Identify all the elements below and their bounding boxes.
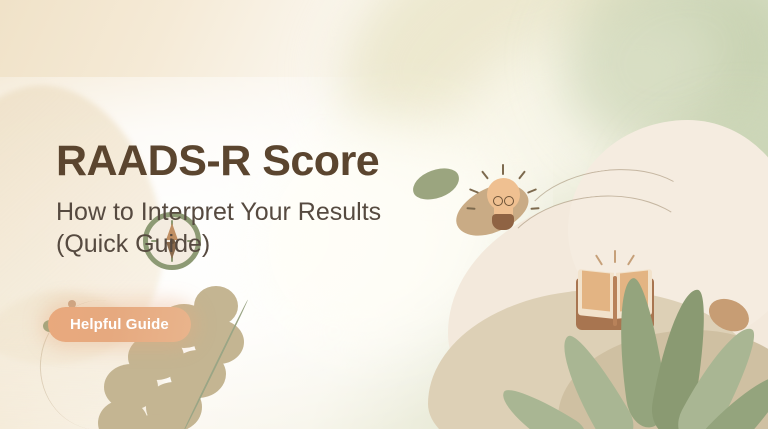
book-ray <box>614 250 616 263</box>
lightbulb-base <box>492 214 514 230</box>
lightbulb-ray <box>481 170 489 179</box>
hero-banner: RAADS-R Score How to Interpret Your Resu… <box>0 0 768 429</box>
book-page-inner-left <box>582 271 610 312</box>
lightbulb-ray <box>502 164 504 175</box>
lightbulb-icon <box>468 166 538 246</box>
page-subtitle: How to Interpret Your Results (Quick Gui… <box>56 196 386 260</box>
lightbulb-ray <box>518 170 526 179</box>
page-title: RAADS-R Score <box>56 138 476 184</box>
lightbulb-filament <box>493 196 503 206</box>
lightbulb-filament <box>504 196 514 206</box>
book-spine <box>613 276 617 326</box>
status-badge[interactable]: Helpful Guide <box>48 307 191 342</box>
lightbulb-ray <box>527 188 537 194</box>
badge-row: Helpful Guide <box>48 307 191 342</box>
hero-text-block: RAADS-R Score How to Interpret Your Resu… <box>56 138 476 260</box>
